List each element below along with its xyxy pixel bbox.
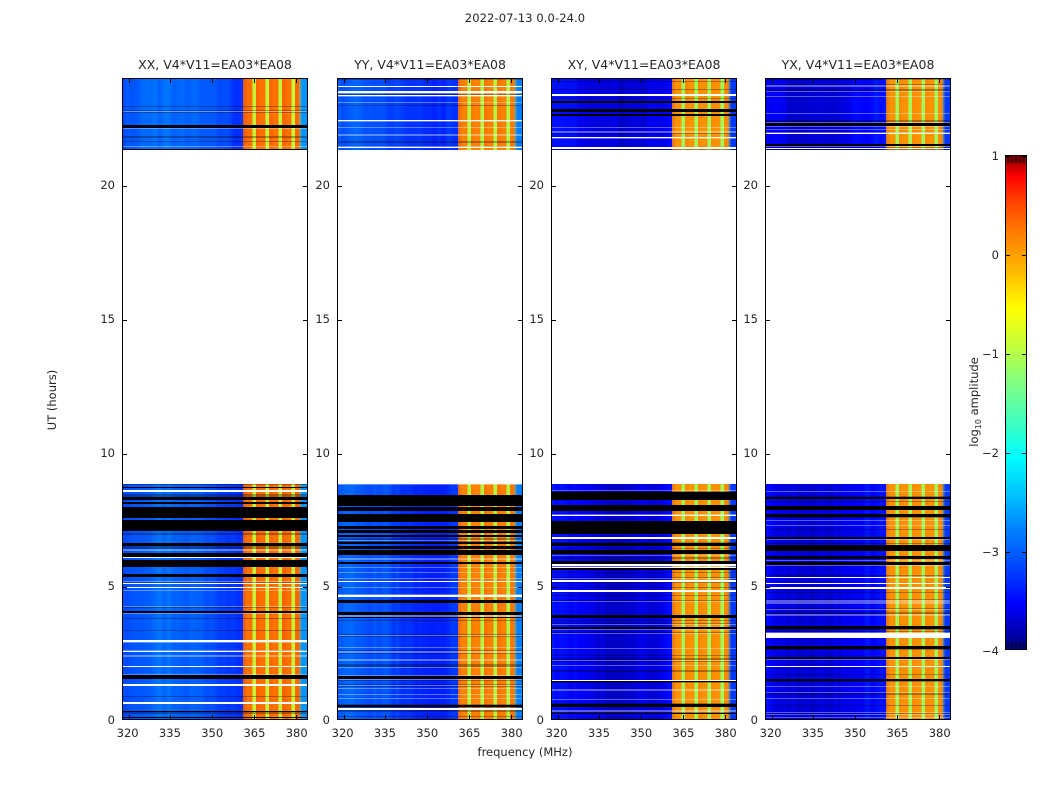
x-tick-mark bbox=[254, 79, 255, 83]
data-band-yx-1 bbox=[766, 79, 950, 150]
data-band-yy-0 bbox=[338, 484, 522, 720]
y-tick-mark bbox=[946, 320, 950, 321]
data-band-yx-0 bbox=[766, 484, 950, 720]
x-tick-mark bbox=[641, 715, 642, 719]
y-tick-label: 20 bbox=[315, 178, 337, 192]
colorbar-tick-label: 0 bbox=[992, 248, 1006, 262]
colorbar-label: log10 amplitude bbox=[967, 357, 983, 447]
y-tick-label: 10 bbox=[315, 446, 337, 460]
y-tick-mark bbox=[518, 320, 522, 321]
y-tick-mark bbox=[732, 587, 736, 588]
panel-title-xy: XY, V4*V11=EA03*EA08 bbox=[568, 57, 721, 72]
y-tick-mark bbox=[946, 587, 950, 588]
x-tick-mark bbox=[254, 715, 255, 719]
x-tick-mark bbox=[170, 715, 171, 719]
plot-area-xy[interactable] bbox=[551, 78, 737, 720]
data-band-xx-0 bbox=[123, 484, 307, 720]
panel-yx: YX, V4*V11=EA03*EA0805101520320335350365… bbox=[765, 78, 951, 720]
panel-xx: XX, V4*V11=EA03*EA0805101520320335350365… bbox=[122, 78, 308, 720]
y-axis-label: UT (hours) bbox=[45, 370, 59, 430]
x-tick-mark bbox=[427, 715, 428, 719]
y-tick-mark bbox=[123, 454, 127, 455]
y-tick-mark bbox=[518, 186, 522, 187]
x-tick-mark bbox=[511, 715, 512, 719]
x-tick-label: 335 bbox=[374, 720, 396, 740]
y-tick-mark bbox=[766, 587, 770, 588]
x-tick-mark bbox=[469, 79, 470, 83]
x-tick-mark bbox=[939, 715, 940, 719]
x-tick-label: 380 bbox=[929, 720, 951, 740]
data-band-xx-1 bbox=[123, 79, 307, 150]
y-tick-mark bbox=[518, 587, 522, 588]
x-tick-mark bbox=[641, 79, 642, 83]
panel-title-yx: YX, V4*V11=EA03*EA08 bbox=[782, 57, 935, 72]
x-tick-label: 350 bbox=[630, 720, 652, 740]
flagged-time-block bbox=[338, 495, 522, 569]
y-tick-mark bbox=[123, 587, 127, 588]
x-tick-label: 380 bbox=[501, 720, 523, 740]
x-tick-label: 335 bbox=[588, 720, 610, 740]
y-tick-label: 5 bbox=[751, 579, 765, 593]
y-tick-mark bbox=[552, 186, 556, 187]
x-tick-label: 320 bbox=[546, 720, 568, 740]
x-tick-mark bbox=[296, 715, 297, 719]
x-tick-mark bbox=[725, 715, 726, 719]
x-tick-label: 365 bbox=[458, 720, 480, 740]
x-tick-mark bbox=[813, 715, 814, 719]
x-tick-label: 350 bbox=[201, 720, 223, 740]
x-tick-label: 320 bbox=[760, 720, 782, 740]
y-tick-mark bbox=[552, 320, 556, 321]
colorbar-under-cap bbox=[1007, 642, 1025, 648]
x-tick-label: 335 bbox=[159, 720, 181, 740]
x-tick-mark bbox=[558, 715, 559, 719]
figure-suptitle: 2022-07-13 0.0-24.0 bbox=[0, 11, 1050, 25]
x-tick-mark bbox=[129, 715, 130, 719]
colorbar-over-cap bbox=[1007, 157, 1025, 163]
colorbar-tick-mark bbox=[1022, 453, 1026, 454]
x-tick-mark bbox=[939, 79, 940, 83]
y-tick-label: 15 bbox=[100, 312, 122, 326]
colorbar-tick-mark bbox=[1022, 255, 1026, 256]
y-tick-mark bbox=[123, 186, 127, 187]
x-tick-mark bbox=[855, 79, 856, 83]
x-tick-mark bbox=[344, 715, 345, 719]
y-tick-label: 20 bbox=[529, 178, 551, 192]
flagged-time-block bbox=[766, 495, 950, 569]
x-tick-mark bbox=[385, 79, 386, 83]
colorbar-tick-mark bbox=[1022, 156, 1026, 157]
time-stripe-overlay bbox=[552, 79, 736, 150]
x-tick-label: 320 bbox=[117, 720, 139, 740]
x-tick-mark bbox=[427, 79, 428, 83]
panel-yy: YY, V4*V11=EA03*EA0805101520320335350365… bbox=[337, 78, 523, 720]
plot-area-xx[interactable] bbox=[122, 78, 308, 720]
time-stripe-overlay bbox=[766, 79, 950, 150]
y-tick-mark bbox=[732, 320, 736, 321]
y-tick-label: 10 bbox=[743, 446, 765, 460]
colorbar-tick-label: −1 bbox=[982, 347, 1006, 361]
x-tick-mark bbox=[599, 715, 600, 719]
x-tick-mark bbox=[558, 79, 559, 83]
flagged-time-block bbox=[552, 495, 736, 569]
x-tick-mark bbox=[897, 79, 898, 83]
colorbar-tick-label: 1 bbox=[992, 149, 1006, 163]
x-tick-mark bbox=[469, 715, 470, 719]
x-tick-label: 350 bbox=[844, 720, 866, 740]
y-tick-mark bbox=[338, 587, 342, 588]
y-tick-label: 5 bbox=[537, 579, 551, 593]
colorbar-tick-label: −3 bbox=[982, 545, 1006, 559]
y-tick-mark bbox=[303, 186, 307, 187]
x-tick-mark bbox=[170, 79, 171, 83]
y-tick-label: 15 bbox=[743, 312, 765, 326]
x-tick-mark bbox=[212, 79, 213, 83]
x-tick-label: 320 bbox=[332, 720, 354, 740]
x-tick-mark bbox=[813, 79, 814, 83]
x-tick-label: 335 bbox=[802, 720, 824, 740]
x-tick-mark bbox=[344, 79, 345, 83]
colorbar-tick-mark bbox=[1006, 255, 1010, 256]
colorbar-tick-label: −4 bbox=[982, 644, 1006, 658]
x-tick-mark bbox=[772, 79, 773, 83]
colorbar-label-sub: 10 bbox=[974, 419, 983, 429]
x-tick-mark bbox=[296, 79, 297, 83]
y-tick-mark bbox=[552, 454, 556, 455]
x-tick-label: 380 bbox=[715, 720, 737, 740]
y-tick-label: 15 bbox=[529, 312, 551, 326]
x-tick-label: 365 bbox=[886, 720, 908, 740]
colorbar-tick-mark bbox=[1006, 552, 1010, 553]
colorbar-tick-mark bbox=[1022, 552, 1026, 553]
colorbar[interactable]: −4−3−2−101 bbox=[1005, 155, 1027, 650]
x-tick-mark bbox=[897, 715, 898, 719]
y-tick-label: 15 bbox=[315, 312, 337, 326]
colorbar-tick-label: −2 bbox=[982, 446, 1006, 460]
y-tick-label: 20 bbox=[743, 178, 765, 192]
colorbar-tick-mark bbox=[1022, 354, 1026, 355]
y-tick-mark bbox=[338, 186, 342, 187]
x-tick-mark bbox=[385, 715, 386, 719]
y-tick-mark bbox=[946, 186, 950, 187]
x-tick-mark bbox=[772, 715, 773, 719]
data-band-xy-1 bbox=[552, 79, 736, 150]
y-tick-mark bbox=[552, 587, 556, 588]
x-tick-mark bbox=[855, 715, 856, 719]
data-band-xy-0 bbox=[552, 484, 736, 720]
y-tick-mark bbox=[338, 454, 342, 455]
y-tick-mark bbox=[338, 320, 342, 321]
y-tick-mark bbox=[303, 320, 307, 321]
y-tick-label: 5 bbox=[108, 579, 122, 593]
x-tick-mark bbox=[129, 79, 130, 83]
colorbar-label-tail: amplitude bbox=[967, 357, 981, 419]
figure-canvas: 2022-07-13 0.0-24.0 UT (hours) frequency… bbox=[0, 0, 1050, 800]
colorbar-tick-mark bbox=[1006, 354, 1010, 355]
x-tick-mark bbox=[599, 79, 600, 83]
y-tick-mark bbox=[303, 454, 307, 455]
x-tick-label: 350 bbox=[416, 720, 438, 740]
colorbar-label-main: log bbox=[967, 429, 981, 447]
x-tick-mark bbox=[683, 79, 684, 83]
y-tick-mark bbox=[766, 320, 770, 321]
y-tick-mark bbox=[732, 186, 736, 187]
y-tick-mark bbox=[518, 454, 522, 455]
time-stripe-overlay bbox=[338, 79, 522, 150]
y-tick-label: 10 bbox=[529, 446, 551, 460]
panel-title-xx: XX, V4*V11=EA03*EA08 bbox=[138, 57, 292, 72]
x-tick-label: 365 bbox=[672, 720, 694, 740]
y-tick-mark bbox=[946, 454, 950, 455]
time-stripe-overlay bbox=[123, 79, 307, 150]
y-tick-mark bbox=[766, 186, 770, 187]
x-tick-mark bbox=[683, 715, 684, 719]
x-tick-label: 380 bbox=[286, 720, 308, 740]
y-tick-label: 5 bbox=[323, 579, 337, 593]
y-tick-mark bbox=[303, 587, 307, 588]
x-tick-label: 365 bbox=[243, 720, 265, 740]
y-tick-mark bbox=[732, 454, 736, 455]
data-band-yy-1 bbox=[338, 79, 522, 150]
panel-title-yy: YY, V4*V11=EA03*EA08 bbox=[354, 57, 506, 72]
plot-area-yx[interactable] bbox=[765, 78, 951, 720]
x-axis-label: frequency (MHz) bbox=[0, 745, 1050, 759]
panel-xy: XY, V4*V11=EA03*EA0805101520320335350365… bbox=[551, 78, 737, 720]
x-tick-mark bbox=[725, 79, 726, 83]
x-tick-mark bbox=[212, 715, 213, 719]
y-tick-label: 10 bbox=[100, 446, 122, 460]
x-tick-mark bbox=[511, 79, 512, 83]
colorbar-tick-mark bbox=[1006, 156, 1010, 157]
y-tick-mark bbox=[766, 454, 770, 455]
y-tick-label: 20 bbox=[100, 178, 122, 192]
flagged-time-block bbox=[123, 495, 307, 569]
plot-area-yy[interactable] bbox=[337, 78, 523, 720]
colorbar-tick-mark bbox=[1006, 453, 1010, 454]
y-tick-mark bbox=[123, 320, 127, 321]
